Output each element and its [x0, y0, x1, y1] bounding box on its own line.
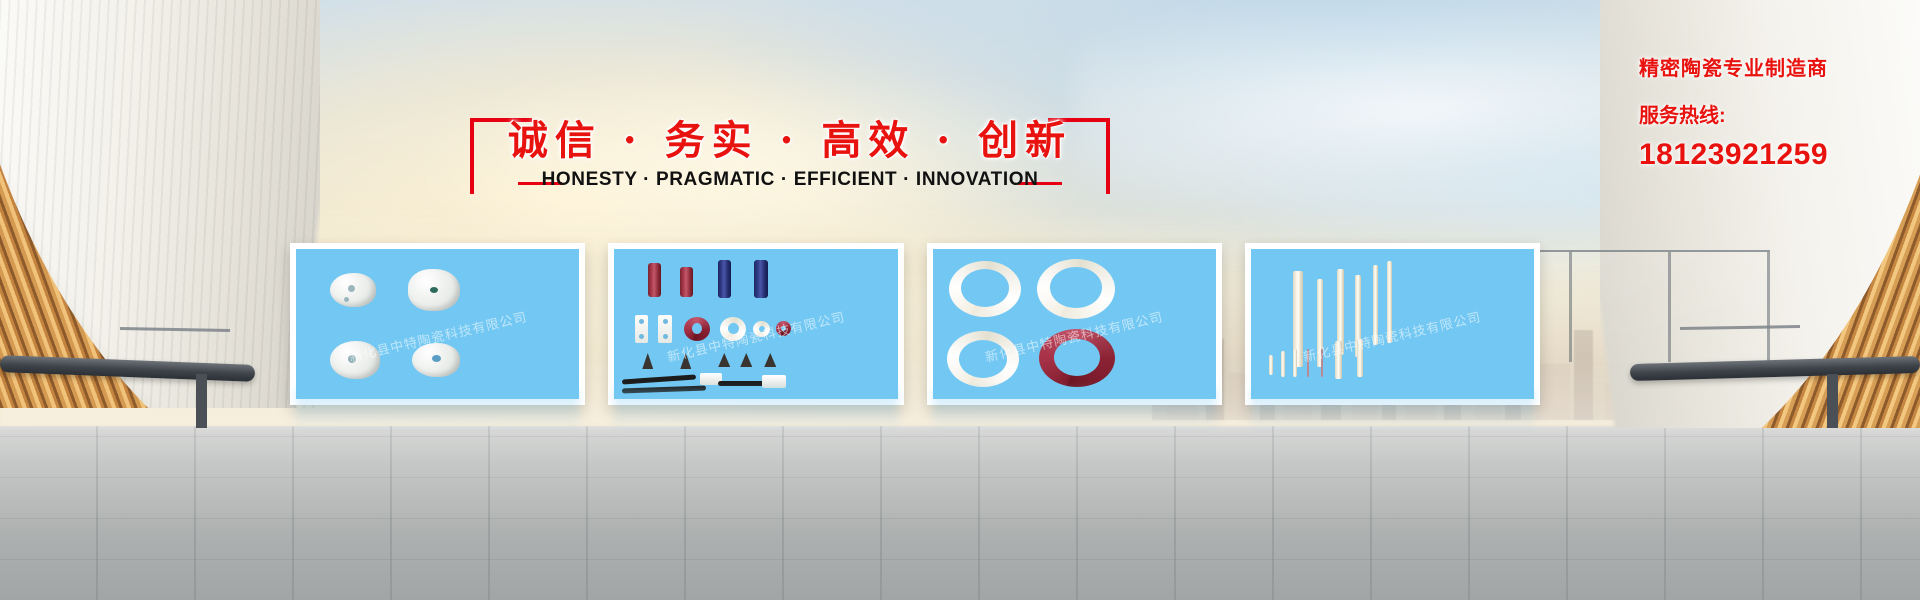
panel-reflection	[296, 389, 579, 431]
handrail-post	[196, 374, 207, 428]
headline-english: HONESTY · PRAGMATIC · EFFICIENT · INNOVA…	[470, 169, 1110, 191]
right-handrail	[1590, 352, 1920, 398]
product-panel-ceramic-insulator-caps[interactable]: 新化县中特陶瓷科技有限公司	[290, 243, 585, 405]
watermark-text: 新化县中特陶瓷科技有限公司	[1302, 306, 1484, 365]
product-image-3: 新化县中特陶瓷科技有限公司	[933, 249, 1216, 399]
product-panel-ceramic-tubes[interactable]: 新化县中特陶瓷科技有限公司	[608, 243, 903, 405]
hero-banner: 诚信 · 务实 · 高效 · 创新 HONESTY · PRAGMATIC · …	[0, 0, 1920, 600]
panel-reflection	[614, 389, 897, 431]
product-image-1: 新化县中特陶瓷科技有限公司	[296, 249, 579, 399]
headline-block: 诚信 · 务实 · 高效 · 创新 HONESTY · PRAGMATIC · …	[470, 96, 1110, 206]
contact-block: 精密陶瓷专业制造商 服务热线: 18123921259	[1639, 52, 1828, 172]
hotline-label: 服务热线:	[1639, 99, 1828, 128]
product-panel-ceramic-rods[interactable]: 新化县中特陶瓷科技有限公司	[1245, 243, 1540, 405]
hotline-phone-number[interactable]: 18123921259	[1639, 138, 1828, 172]
handrail-post	[1827, 374, 1838, 428]
headline-chinese: 诚信 · 务实 · 高效 · 创新	[470, 108, 1110, 166]
product-image-4: 新化县中特陶瓷科技有限公司	[1251, 249, 1534, 399]
panel-reflection	[933, 389, 1216, 431]
product-panel-ceramic-rings[interactable]: 新化县中特陶瓷科技有限公司	[927, 243, 1222, 405]
product-image-2: 新化县中特陶瓷科技有限公司	[614, 249, 897, 399]
panel-reflection	[1251, 389, 1534, 431]
floor-reflection	[0, 426, 1920, 600]
left-handrail	[0, 352, 300, 398]
left-architecture	[0, 0, 320, 408]
product-gallery: 新化县中特陶瓷科技有限公司	[290, 243, 1540, 405]
company-tagline: 精密陶瓷专业制造商	[1639, 52, 1828, 81]
handrail-bar	[1630, 356, 1920, 381]
handrail-bar	[0, 355, 255, 382]
